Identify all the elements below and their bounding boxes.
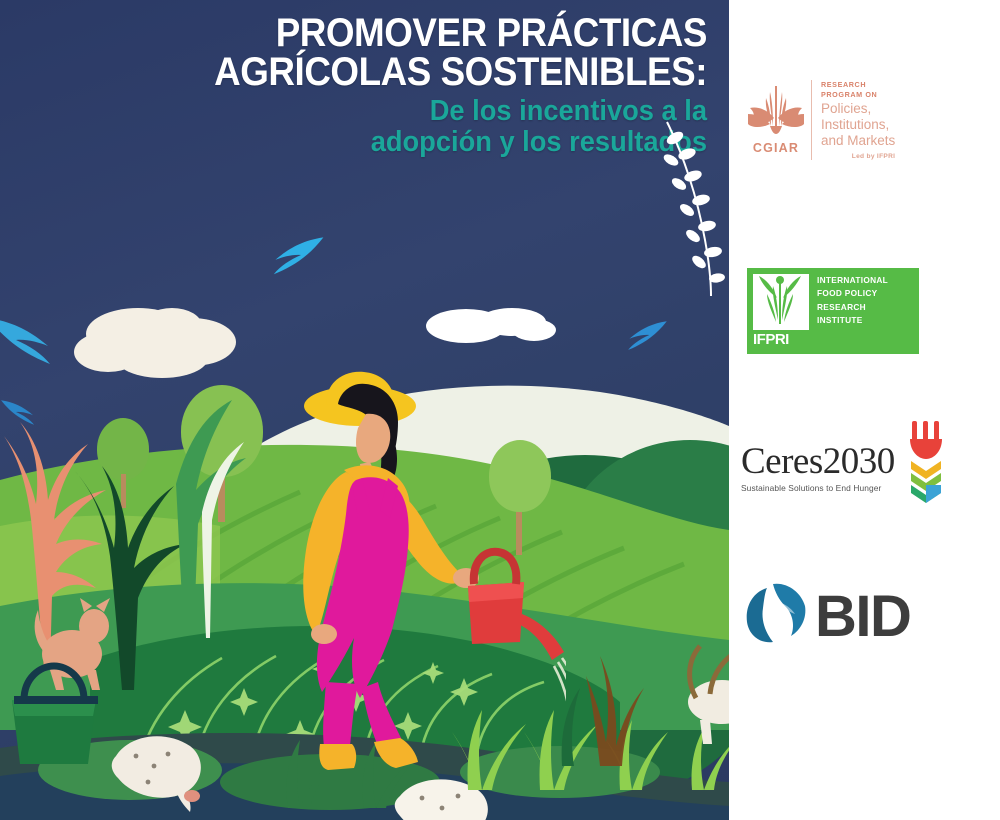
cgiar-wheat-emblem-icon <box>748 84 804 138</box>
logo-ifpri: IFPRI INTERNATIONAL FOOD POLICY RESEARCH… <box>729 268 1000 360</box>
title-line-1: PROMOVER PRÁCTICAS <box>57 14 707 53</box>
farm-animal-cow <box>666 640 729 750</box>
white-leaf-accent <box>168 440 248 640</box>
watering-can-green <box>0 660 110 770</box>
dry-shrub-icon <box>556 638 646 768</box>
cgiar-wordmark: CGIAR <box>745 141 807 155</box>
cgiar-eyebrow-line-2: PROGRAM ON <box>821 90 895 100</box>
ifpri-name-line-2: FOOD POLICY <box>817 287 913 300</box>
cgiar-eyebrow: RESEARCH PROGRAM ON <box>821 80 895 99</box>
cgiar-title-line-2: Institutions, <box>821 117 895 133</box>
bird-icon <box>253 232 325 278</box>
olive-branch-icon <box>657 120 727 300</box>
logo-ceres2030: Ceres2030 Sustainable Solutions to End H… <box>729 425 1000 515</box>
logo-cgiar: CGIAR RESEARCH PROGRAM ON Policies, Inst… <box>729 80 1000 190</box>
ifpri-name-line-1: INTERNATIONAL <box>817 274 913 287</box>
title-line-2: AGRÍCOLAS SOSTENIBLES: <box>57 53 707 92</box>
cover-illustration: PROMOVER PRÁCTICAS AGRÍCOLAS SOSTENIBLES… <box>0 0 729 820</box>
page-title: PROMOVER PRÁCTICAS AGRÍCOLAS SOSTENIBLES… <box>57 0 707 92</box>
cgiar-title-line-1: Policies, <box>821 101 895 117</box>
ifpri-full-name: INTERNATIONAL FOOD POLICY RESEARCH INSTI… <box>809 274 913 348</box>
ifpri-name-line-4: INSTITUTE <box>817 314 913 327</box>
logo-bid: BID <box>729 582 1000 672</box>
cgiar-led-by: Led by IFPRI <box>821 153 895 160</box>
subtitle-line-2: adopción y los resultados <box>42 127 707 157</box>
publication-cover-page: PROMOVER PRÁCTICAS AGRÍCOLAS SOSTENIBLES… <box>0 0 1000 820</box>
logo-panel: CGIAR RESEARCH PROGRAM ON Policies, Inst… <box>729 0 1000 820</box>
ifpri-wheat-glyph-icon <box>753 274 809 330</box>
cover-title-block: PROMOVER PRÁCTICAS AGRÍCOLAS SOSTENIBLES… <box>0 0 729 157</box>
cgiar-eyebrow-line-1: RESEARCH <box>821 80 895 90</box>
ceres-tagline: Sustainable Solutions to End Hunger <box>741 483 895 493</box>
page-subtitle: De los incentivos a la adopción y los re… <box>42 96 707 157</box>
cgiar-program-title: Policies, Institutions, and Markets <box>821 101 895 149</box>
cgiar-title-line-3: and Markets <box>821 133 895 149</box>
bid-globe-icon <box>743 582 809 651</box>
farmer-illustration <box>266 362 566 782</box>
ceres-wheat-chevrons-icon <box>905 419 947 510</box>
chicken-icon <box>108 726 218 816</box>
watering-can-red <box>468 552 564 660</box>
ifpri-wordmark: IFPRI <box>753 332 809 349</box>
bid-wordmark: BID <box>815 588 910 646</box>
ceres-wordmark: Ceres2030 <box>741 443 895 480</box>
ifpri-name-line-3: RESEARCH <box>817 301 913 314</box>
subtitle-line-1: De los incentivos a la <box>42 96 707 126</box>
